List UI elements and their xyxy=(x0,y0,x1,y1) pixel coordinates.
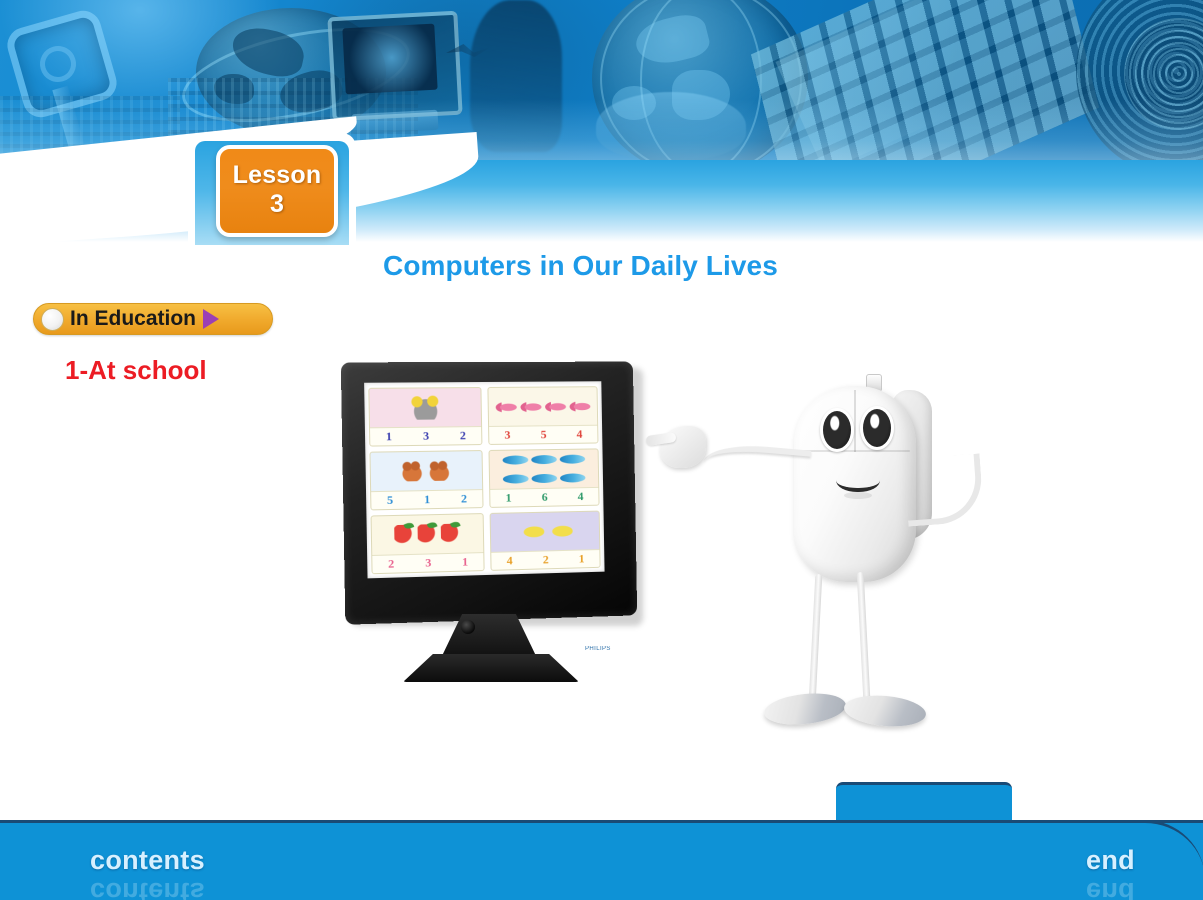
lesson-word: Lesson xyxy=(233,162,322,188)
mascot-shoe-right xyxy=(843,692,927,729)
mascot-cable-arm xyxy=(904,453,985,526)
lesson-number: 3 xyxy=(270,189,284,220)
bluefish-icon xyxy=(503,455,529,464)
bluefish-icon xyxy=(503,475,529,484)
mascot-button-split xyxy=(854,390,856,452)
mascot-mouth xyxy=(836,468,880,492)
pink-fish-panel: 354 xyxy=(487,386,598,445)
panel-picture xyxy=(490,449,599,489)
end-link-reflection: end xyxy=(1086,876,1135,900)
number-choice[interactable]: 1 xyxy=(462,554,468,569)
number-choice[interactable]: 4 xyxy=(576,427,582,442)
panel-picture xyxy=(372,514,484,555)
yelfish-icon xyxy=(547,523,573,539)
panel-number-choices: 132 xyxy=(370,426,481,446)
number-choice[interactable]: 2 xyxy=(388,556,394,571)
slide-root: Lesson 3 Computers in Our Daily Lives In… xyxy=(0,0,1203,900)
monitor-screen: 132354512164231421 xyxy=(364,381,604,578)
koala-panel: 132 xyxy=(368,387,482,447)
number-choice[interactable]: 3 xyxy=(425,555,431,570)
apple-icon xyxy=(394,525,415,546)
panel-picture xyxy=(369,388,481,427)
panel-picture xyxy=(488,387,597,426)
bluefish-icon xyxy=(560,454,586,463)
mascot-eye-right xyxy=(860,406,894,450)
bluefish-icon xyxy=(531,455,557,464)
panel-number-choices: 231 xyxy=(372,552,483,573)
number-choice[interactable]: 4 xyxy=(578,489,584,504)
number-choice[interactable]: 5 xyxy=(541,427,547,442)
monitor-illustration: 132354512164231421 PHILIPS xyxy=(345,362,645,682)
bluefish-icon xyxy=(532,474,558,483)
pinkfish-icon xyxy=(569,401,591,412)
number-choice[interactable]: 1 xyxy=(386,429,392,444)
contents-link[interactable]: contents xyxy=(90,845,205,876)
white-circle-icon xyxy=(41,308,64,331)
lesson-badge[interactable]: Lesson 3 xyxy=(216,145,338,237)
number-choice[interactable]: 3 xyxy=(423,429,429,444)
mascot-leg-left xyxy=(809,574,823,702)
page-title: Computers in Our Daily Lives xyxy=(383,250,778,282)
mascot-shell-line xyxy=(800,450,910,452)
apple-icon xyxy=(418,524,439,545)
mascot-leg-right xyxy=(857,572,871,700)
panel-number-choices: 164 xyxy=(490,487,598,507)
panel-picture xyxy=(370,451,482,491)
number-choice[interactable]: 4 xyxy=(507,553,513,568)
monitor-power-led xyxy=(461,620,475,634)
pinkfish-icon xyxy=(520,401,542,412)
monitor-brand-logo: PHILIPS xyxy=(585,646,611,652)
pinkfish-icon xyxy=(495,401,517,412)
section-pill-label: In Education xyxy=(70,307,196,331)
yelfish-icon xyxy=(518,524,544,541)
number-choice[interactable]: 1 xyxy=(579,551,585,566)
number-choice[interactable]: 5 xyxy=(387,493,393,508)
mascot-shoe-left xyxy=(763,690,848,728)
mouse-icon xyxy=(428,461,453,482)
contents-link-reflection: contents xyxy=(90,876,205,900)
pinkfish-icon xyxy=(545,401,567,412)
mascot-chin xyxy=(844,492,872,499)
section-pill-in-education[interactable]: In Education xyxy=(33,303,273,335)
play-triangle-icon[interactable] xyxy=(203,309,219,329)
apple-icon xyxy=(441,524,461,545)
panel-number-choices: 512 xyxy=(371,489,482,509)
number-choice[interactable]: 1 xyxy=(424,492,430,507)
number-choice[interactable]: 6 xyxy=(542,490,548,505)
bluefish-icon xyxy=(560,474,586,483)
section-subtitle: 1-At school xyxy=(65,355,207,386)
end-link[interactable]: end xyxy=(1086,845,1135,876)
number-choice[interactable]: 2 xyxy=(543,552,549,567)
counting-game-grid: 132354512164231421 xyxy=(368,386,600,574)
apple-panel: 231 xyxy=(371,513,485,574)
mouse-panel: 512 xyxy=(369,450,483,510)
mascot-eye-left xyxy=(820,408,854,452)
koala-icon xyxy=(410,395,441,419)
yellow-fish-panel: 421 xyxy=(490,511,601,571)
number-choice[interactable]: 2 xyxy=(461,491,467,506)
blue-fish-panel: 164 xyxy=(488,448,599,508)
number-choice[interactable]: 2 xyxy=(460,428,466,443)
panel-number-choices: 421 xyxy=(491,549,599,570)
panel-picture xyxy=(491,512,600,552)
mouse-icon xyxy=(401,461,426,482)
panel-number-choices: 354 xyxy=(489,425,597,444)
number-choice[interactable]: 3 xyxy=(504,428,510,443)
mouse-mascot xyxy=(648,372,988,762)
monitor-stand xyxy=(403,654,579,682)
number-choice[interactable]: 1 xyxy=(505,491,511,506)
